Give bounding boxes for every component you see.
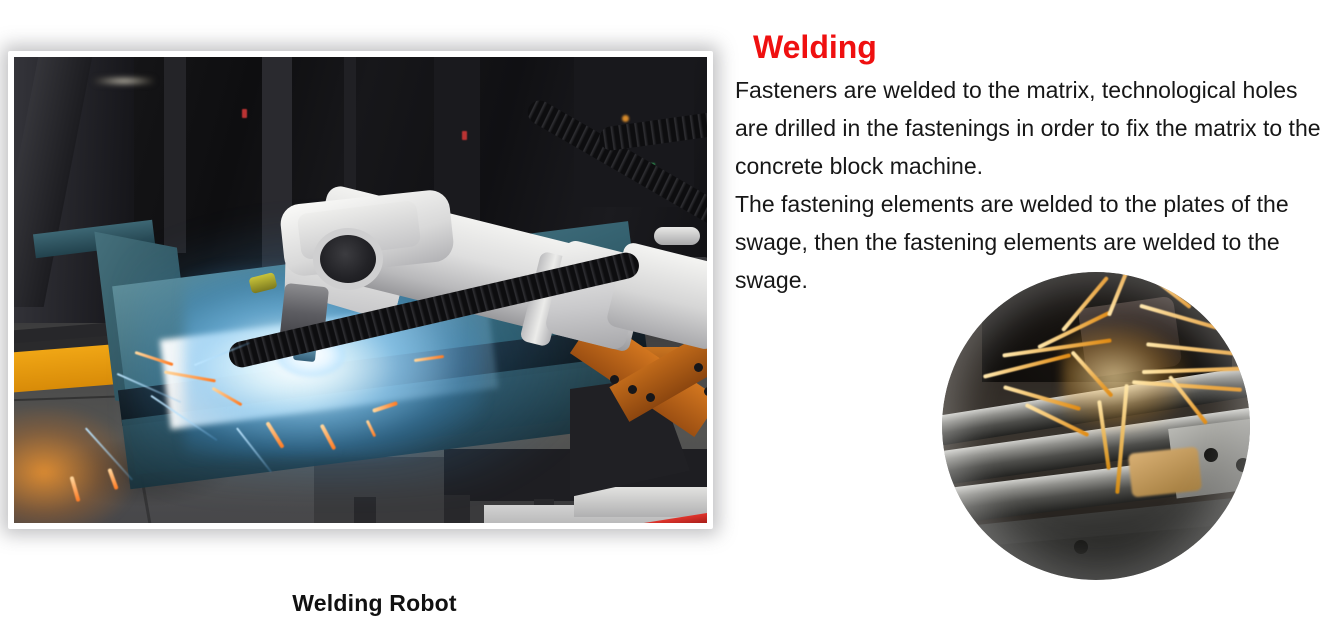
bolt-hole bbox=[704, 387, 707, 396]
text-panel: Welding Fasteners are welded to the matr… bbox=[735, 30, 1335, 299]
slide-root: Welding Robot Welding Fasteners are weld… bbox=[0, 0, 1342, 615]
floor-orange-glow bbox=[14, 407, 134, 523]
welding-sparks-circular-photo bbox=[942, 272, 1250, 580]
welding-robot-figure: Welding Robot bbox=[14, 57, 707, 523]
paragraph-1: Fasteners are welded to the matrix, tech… bbox=[735, 71, 1335, 185]
bolt-hole bbox=[646, 393, 655, 402]
section-title: Welding bbox=[753, 30, 1335, 65]
photo-caption: Welding Robot bbox=[28, 590, 721, 617]
welding-robot-photo bbox=[14, 57, 707, 523]
indicator-light bbox=[242, 109, 247, 118]
machine-leg bbox=[444, 495, 470, 523]
circle-feather-edge bbox=[942, 272, 1250, 580]
bolt-hole bbox=[694, 363, 703, 372]
bolt-hole bbox=[628, 385, 637, 394]
robot-arm-wrist-ring bbox=[320, 235, 376, 283]
indicator-light bbox=[462, 131, 467, 140]
machine-leg bbox=[354, 497, 376, 523]
pipe-fitting bbox=[654, 227, 700, 245]
bolt-hole bbox=[610, 375, 619, 384]
ceiling-light bbox=[94, 77, 154, 85]
indicator-light bbox=[622, 115, 629, 122]
